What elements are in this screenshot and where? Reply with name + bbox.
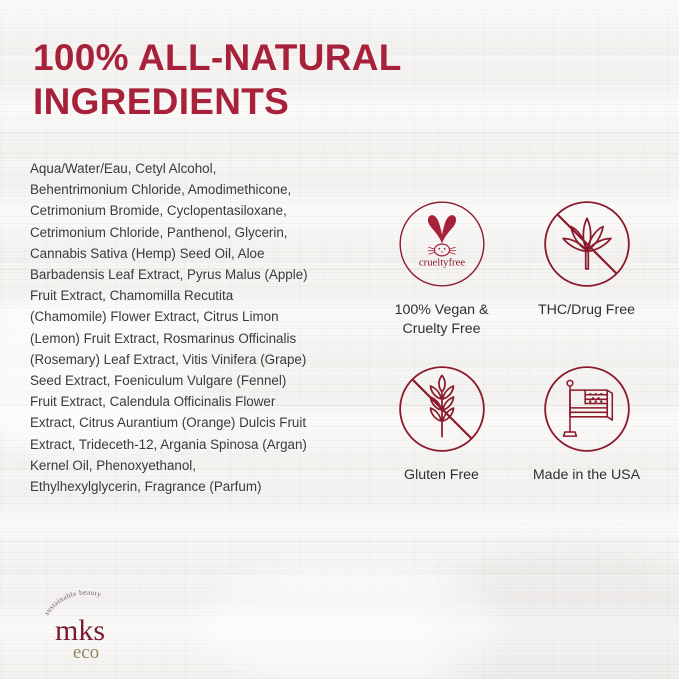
badge-made-in-usa: Made in the USA bbox=[517, 363, 656, 485]
prohibition-slash bbox=[558, 215, 616, 273]
badge-gluten-free: Gluten Free bbox=[372, 363, 511, 485]
badge-label: 100% Vegan & Cruelty Free bbox=[395, 301, 489, 339]
mks-eco-logo: sustainable beauty mks eco bbox=[30, 587, 158, 661]
badge-vegan-cruelty-free: crueltyfree 100% Vegan & Cruelty Free bbox=[372, 198, 511, 339]
badge-thc-drug-free: THC/Drug Free bbox=[517, 198, 656, 339]
ingredient-infographic-poster: 100% ALL-NATURAL INGREDIENTS Aqua/Water/… bbox=[0, 0, 679, 679]
no-cannabis-leaf-icon bbox=[541, 198, 633, 290]
cruelty-free-wordmark: crueltyfree bbox=[418, 257, 464, 269]
no-wheat-icon bbox=[396, 363, 488, 455]
logo-tagline: sustainable beauty bbox=[43, 589, 103, 617]
certification-badge-grid: crueltyfree 100% Vegan & Cruelty Free bbox=[372, 198, 656, 485]
cruelty-free-bunny-icon: crueltyfree bbox=[396, 198, 488, 290]
badge-label: Gluten Free bbox=[404, 466, 479, 485]
ingredient-list-text: Aqua/Water/Eau, Cetyl Alcohol, Behentrim… bbox=[30, 158, 308, 497]
page-title: 100% ALL-NATURAL INGREDIENTS bbox=[33, 36, 463, 123]
brand-logo: sustainable beauty mks eco bbox=[30, 587, 158, 661]
logo-sub-wordmark: eco bbox=[73, 642, 99, 661]
badge-label: THC/Drug Free bbox=[538, 301, 635, 320]
logo-tagline-text: sustainable beauty bbox=[43, 589, 103, 617]
usa-flag-icon bbox=[541, 363, 633, 455]
badge-label: Made in the USA bbox=[533, 466, 640, 485]
